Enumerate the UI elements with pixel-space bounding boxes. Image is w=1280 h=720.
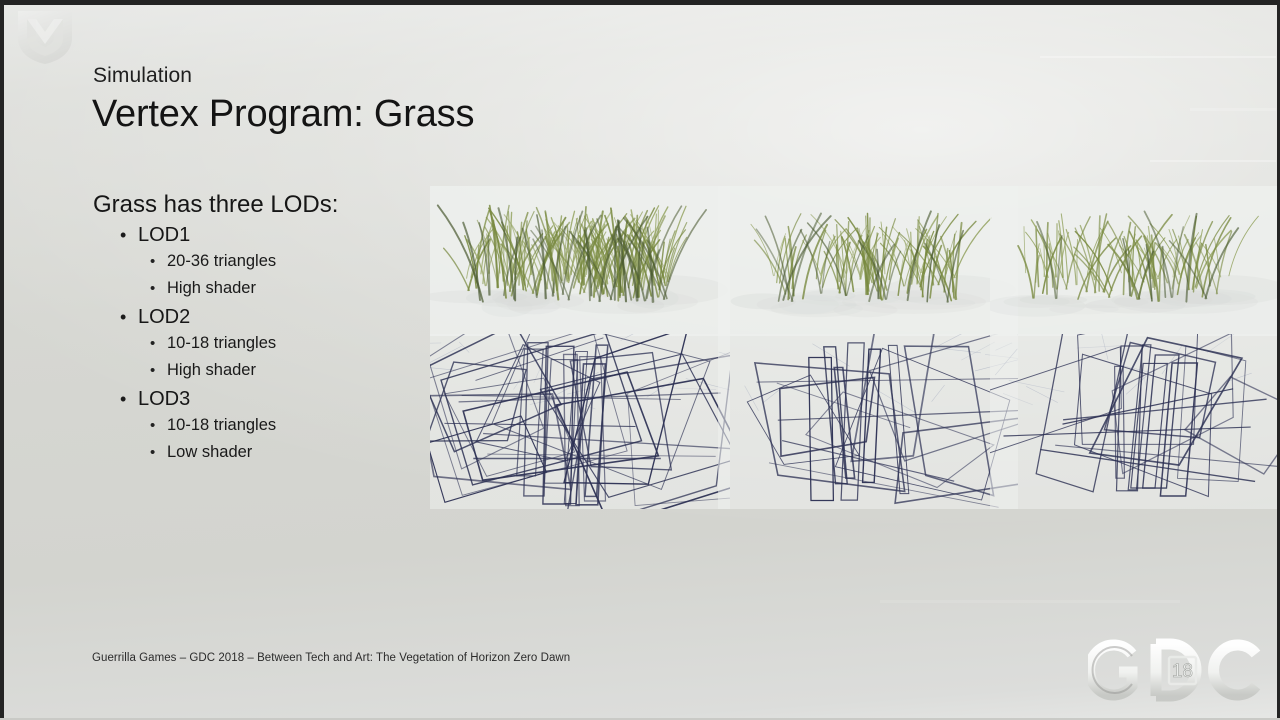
list-item: • LOD2 [93, 306, 423, 334]
list-item-label: 20-36 triangles [167, 252, 276, 271]
lod1-grass-render [430, 186, 730, 336]
bullet-marker-icon: • [150, 254, 167, 269]
lod2-grass-render [718, 186, 1018, 336]
bullet-marker-icon: • [150, 281, 167, 296]
list-item-label: 10-18 triangles [167, 416, 276, 435]
bullet-marker-icon: • [150, 418, 167, 433]
lod3-render-group [990, 186, 1280, 526]
lod-bullet-list: • LOD1 • 20-36 triangles • High shader •… [93, 224, 423, 470]
list-item-label: LOD2 [138, 306, 190, 329]
list-item: • 20-36 triangles [93, 252, 423, 279]
list-item: • 10-18 triangles [93, 334, 423, 361]
bullet-marker-icon: • [120, 308, 138, 326]
bg-streak [880, 600, 1180, 603]
bullet-marker-icon: • [120, 390, 138, 408]
intro-text: Grass has three LODs: [93, 191, 338, 219]
bullet-marker-icon: • [120, 226, 138, 244]
list-item: • LOD1 [93, 224, 423, 252]
bullet-marker-icon: • [150, 445, 167, 460]
list-item: • High shader [93, 279, 423, 306]
slide-eyebrow: Simulation [93, 64, 192, 88]
gdc-logo: 18 [1088, 634, 1268, 706]
bullet-marker-icon: • [150, 336, 167, 351]
bullet-marker-icon: • [150, 363, 167, 378]
bg-streak [1150, 160, 1276, 162]
footer-credit: Guerrilla Games – GDC 2018 – Between Tec… [92, 652, 570, 664]
letterbox-top [0, 0, 1280, 5]
lod3-wireframe-render [990, 334, 1280, 509]
list-item-label: High shader [167, 279, 256, 298]
slide-page-number: 18 [1172, 661, 1193, 682]
list-item-label: Low shader [167, 443, 252, 462]
list-item: • Low shader [93, 443, 423, 470]
lod1-wireframe-render [430, 334, 730, 509]
list-item-label: High shader [167, 361, 256, 380]
list-item: • High shader [93, 361, 423, 388]
bg-streak [1040, 56, 1276, 58]
list-item-label: LOD3 [138, 388, 190, 411]
lod2-render-group [718, 186, 1018, 526]
lod2-wireframe-render [718, 334, 1018, 509]
list-item: • 10-18 triangles [93, 416, 423, 443]
list-item-label: 10-18 triangles [167, 334, 276, 353]
page-title: Vertex Program: Grass [92, 93, 474, 136]
list-item: • LOD3 [93, 388, 423, 416]
letterbox-left [0, 0, 4, 720]
slide-canvas: Simulation Vertex Program: Grass Grass h… [0, 0, 1280, 720]
lod3-grass-render [990, 186, 1280, 336]
lod1-render-group [430, 186, 730, 526]
list-item-label: LOD1 [138, 224, 190, 247]
grass-lod-render-panel [430, 186, 1280, 526]
guerrilla-logo-icon [14, 8, 76, 66]
bg-streak [1190, 108, 1276, 111]
